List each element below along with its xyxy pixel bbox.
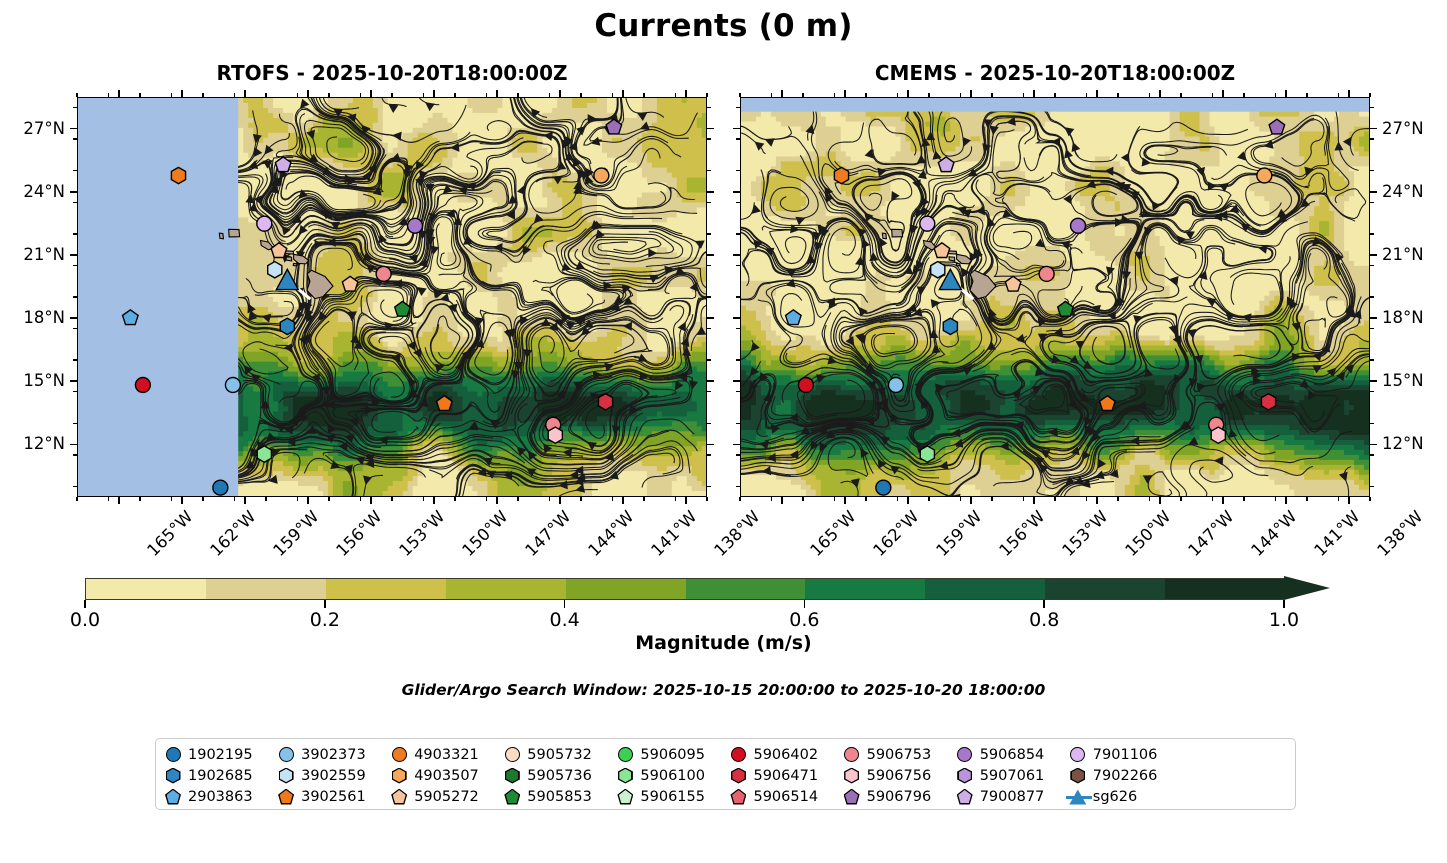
platform-marker-1902685[interactable]	[280, 318, 294, 334]
rtofs-current-field	[78, 98, 706, 496]
colorbar-segment	[566, 579, 687, 599]
latitude-tick-label-left: 27°N	[0, 119, 65, 138]
platform-marker-3902373[interactable]	[888, 377, 903, 392]
xtick-major-top	[781, 90, 783, 97]
platform-marker-1902685[interactable]	[943, 318, 957, 334]
xtick-major	[307, 497, 309, 504]
xtick-major-top	[970, 90, 972, 97]
latitude-tick-label-right: 12°N	[1382, 434, 1424, 453]
platform-marker-5906753[interactable]	[376, 266, 391, 281]
ytick-minor-right	[707, 265, 711, 266]
platform-marker-5906471[interactable]	[1261, 394, 1275, 410]
xtick-minor	[928, 497, 929, 501]
xtick-minor	[423, 497, 424, 501]
legend-label: 5906753	[867, 747, 932, 763]
ytick-minor-right	[707, 328, 711, 329]
ytick-major-right	[707, 191, 714, 193]
ytick-minor-left	[736, 391, 740, 392]
legend-label: 2903863	[188, 789, 253, 805]
xtick-minor-top	[739, 93, 740, 97]
legend-label: 5906100	[640, 768, 705, 784]
ytick-minor-right	[1370, 138, 1374, 139]
hexagon-fill	[506, 769, 518, 782]
xtick-major	[1159, 497, 1161, 504]
ytick-minor-right	[707, 486, 711, 487]
xtick-major-top	[496, 90, 498, 97]
colorbar-tick-label: 0.6	[789, 609, 819, 631]
colorbar-tick	[1043, 600, 1045, 608]
platform-marker-7901106[interactable]	[257, 216, 272, 231]
colorbar-segment	[86, 579, 207, 599]
hexagon-marker-icon	[1070, 768, 1085, 784]
legend-label: 5905272	[414, 789, 479, 805]
legend-label: 5906756	[867, 768, 932, 784]
legend-label: 5906514	[753, 789, 818, 805]
platform-marker-3902559[interactable]	[268, 262, 282, 278]
ytick-minor-left	[73, 359, 77, 360]
ytick-minor-right	[707, 296, 711, 297]
xtick-minor-top	[706, 93, 707, 97]
ytick-major-right	[707, 380, 714, 382]
longitude-tick-label: 141°W	[647, 507, 700, 560]
ytick-minor-right	[1370, 265, 1374, 266]
legend-label: 5907061	[980, 768, 1045, 784]
longitude-tick-label: 141°W	[1310, 507, 1363, 560]
longitude-tick-label: 162°W	[869, 507, 922, 560]
xtick-major	[496, 497, 498, 504]
legend-item[interactable]: 5905853	[503, 788, 616, 806]
xtick-major-top	[1096, 90, 1098, 97]
ytick-minor-right	[707, 202, 711, 203]
colorbar-tick	[84, 600, 86, 608]
circle-marker-icon	[618, 747, 633, 762]
colorbar-segment	[805, 579, 926, 599]
island-kauai	[229, 229, 240, 237]
circle-marker-icon	[844, 747, 859, 762]
pentagon-fill	[619, 790, 632, 803]
pentagon-fill	[280, 790, 293, 803]
legend-item[interactable]: sg626	[1069, 788, 1182, 806]
pentagon-fill	[958, 790, 971, 803]
legend-marker-circle-icon	[956, 746, 974, 764]
xtick-minor-top	[1243, 93, 1244, 97]
latitude-tick-label-right: 24°N	[1382, 182, 1424, 201]
hexagon-fill	[167, 769, 179, 782]
ytick-minor-left	[73, 391, 77, 392]
ytick-minor-left	[73, 138, 77, 139]
xtick-major	[1348, 497, 1350, 504]
platform-marker-5906854[interactable]	[1071, 218, 1086, 233]
platform-marker-7901106[interactable]	[920, 216, 935, 231]
figure-title: Currents (0 m)	[0, 8, 1447, 44]
legend-marker-pentagon-icon	[843, 788, 861, 806]
legend-item[interactable]: 5906100	[616, 767, 729, 785]
colorbar-tick-label: 0.0	[70, 609, 100, 631]
pentagon-marker-icon	[391, 789, 407, 805]
rtofs-no-data-overlay	[78, 98, 238, 496]
legend-item[interactable]: 5905272	[390, 788, 503, 806]
xtick-minor	[202, 497, 203, 501]
ytick-major-left	[70, 191, 77, 193]
colorbar-segment	[686, 579, 807, 599]
ytick-minor-right	[707, 423, 711, 424]
ytick-minor-right	[1370, 296, 1374, 297]
latitude-tick-label-right: 27°N	[1382, 119, 1424, 138]
ytick-minor-left	[736, 265, 740, 266]
ytick-minor-right	[707, 170, 711, 171]
legend-label: 7902266	[1093, 768, 1158, 784]
ytick-minor-left	[73, 265, 77, 266]
xtick-minor-top	[928, 93, 929, 97]
ytick-major-right	[1370, 380, 1377, 382]
xtick-minor-top	[108, 93, 109, 97]
colorbar-tick-label: 0.8	[1029, 609, 1059, 631]
xtick-minor-top	[1117, 93, 1118, 97]
xtick-minor	[1369, 497, 1370, 501]
longitude-tick-label: 156°W	[995, 507, 1048, 560]
panel-title-cmems: CMEMS - 2025-10-20T18:00:00Z	[740, 61, 1370, 85]
platform-marker-5906100[interactable]	[257, 446, 271, 462]
xtick-minor	[897, 497, 898, 501]
xtick-minor-top	[771, 93, 772, 97]
xtick-minor	[991, 497, 992, 501]
ytick-minor-left	[736, 170, 740, 171]
ytick-minor-left	[736, 202, 740, 203]
legend-marker-pentagon-icon	[956, 788, 974, 806]
legend-marker-hexagon-icon	[390, 767, 408, 785]
hexagon-fill	[732, 769, 744, 782]
xtick-major	[559, 497, 561, 504]
legend-item[interactable]: 3902373	[277, 746, 390, 764]
colorbar-segment	[1165, 579, 1286, 599]
hexagon-marker-icon	[279, 768, 294, 784]
ytick-minor-right	[1370, 423, 1374, 424]
xtick-minor	[580, 497, 581, 501]
ytick-major-left	[733, 191, 740, 193]
longitude-tick-label: 147°W	[521, 507, 574, 560]
legend-marker-pentagon-icon	[503, 788, 521, 806]
xtick-major	[1033, 497, 1035, 504]
ytick-minor-right	[1370, 170, 1374, 171]
xtick-minor-top	[454, 93, 455, 97]
xtick-major-top	[1159, 90, 1161, 97]
xtick-minor-top	[643, 93, 644, 97]
xtick-minor	[1338, 497, 1339, 501]
legend-marker-hexagon-icon	[616, 767, 634, 785]
ytick-major-right	[707, 317, 714, 319]
legend-item[interactable]: 1902685	[164, 767, 277, 785]
latitude-tick-label-left: 12°N	[0, 434, 65, 453]
legend-item[interactable]: 5905736	[503, 767, 616, 785]
xtick-major-top	[118, 90, 120, 97]
xtick-minor-top	[234, 93, 235, 97]
longitude-tick-label: 150°W	[1121, 507, 1174, 560]
ytick-major-right	[1370, 128, 1377, 130]
legend-item[interactable]: 7902266	[1069, 767, 1182, 785]
ytick-major-left	[70, 380, 77, 382]
xtick-minor	[706, 497, 707, 501]
platform-marker-5906756[interactable]	[1211, 427, 1225, 443]
colorbar-segment	[925, 579, 1046, 599]
island-kauai	[892, 229, 903, 237]
latitude-tick-label-right: 18°N	[1382, 308, 1424, 327]
xtick-minor	[1306, 497, 1307, 501]
xtick-major	[1096, 497, 1098, 504]
xtick-minor-top	[1369, 93, 1370, 97]
legend-label: 5905736	[527, 768, 592, 784]
legend-item[interactable]: 3902561	[277, 788, 390, 806]
xtick-minor	[265, 497, 266, 501]
ytick-minor-left	[736, 233, 740, 234]
xtick-minor	[171, 497, 172, 501]
ytick-major-left	[733, 380, 740, 382]
xtick-major-top	[181, 90, 183, 97]
xtick-minor-top	[675, 93, 676, 97]
legend-item[interactable]: 5907061	[956, 767, 1069, 785]
xtick-major-top	[244, 90, 246, 97]
legend-item[interactable]: 5906155	[616, 788, 729, 806]
xtick-minor	[328, 497, 329, 501]
longitude-tick-label: 165°W	[806, 507, 859, 560]
pentagon-fill	[393, 790, 406, 803]
xtick-minor-top	[202, 93, 203, 97]
legend-item[interactable]: 7901106	[1069, 746, 1182, 764]
ytick-minor-right	[707, 138, 711, 139]
hexagon-fill	[393, 769, 405, 782]
legend-marker-circle-icon	[390, 746, 408, 764]
colorbar-segment	[1045, 579, 1166, 599]
legend-item[interactable]: 5906753	[843, 746, 956, 764]
ytick-minor-right	[1370, 454, 1374, 455]
xtick-minor	[1023, 497, 1024, 501]
legend-item[interactable]: 5906854	[956, 746, 1069, 764]
platform-marker-1902195[interactable]	[213, 480, 228, 495]
xtick-major	[970, 497, 972, 504]
legend-label: 1902195	[188, 747, 253, 763]
platform-marker-5906756[interactable]	[548, 427, 562, 443]
xtick-major-top	[559, 90, 561, 97]
colorbar-tick	[564, 600, 566, 608]
ytick-minor-left	[736, 328, 740, 329]
xtick-major	[181, 497, 183, 504]
pentagon-marker-icon	[165, 789, 181, 805]
platform-marker-5906854[interactable]	[408, 218, 423, 233]
ytick-minor-left	[73, 170, 77, 171]
xtick-major-top	[1222, 90, 1224, 97]
legend-label: 5906471	[753, 768, 818, 784]
xtick-minor	[454, 497, 455, 501]
longitude-tick-label: 150°W	[458, 507, 511, 560]
circle-marker-icon	[166, 747, 181, 762]
island-niihau	[882, 233, 886, 239]
legend-item[interactable]: 4903507	[390, 767, 503, 785]
ytick-major-right	[1370, 444, 1377, 446]
legend-marker-hexagon-icon	[503, 767, 521, 785]
xtick-minor-top	[580, 93, 581, 97]
platform-marker-3902559[interactable]	[931, 262, 945, 278]
ytick-minor-right	[1370, 202, 1374, 203]
hexagon-fill	[280, 769, 292, 782]
colorbar-segment	[206, 579, 327, 599]
colorbar-tick	[1283, 600, 1285, 608]
longitude-tick-label: 147°W	[1184, 507, 1237, 560]
legend-item[interactable]: 5906471	[729, 767, 842, 785]
legend-marker-circle-icon	[1069, 746, 1087, 764]
xtick-minor	[865, 497, 866, 501]
longitude-tick-label: 159°W	[269, 507, 322, 560]
colorbar-tick-label: 0.2	[310, 609, 340, 631]
platform-marker-4903321[interactable]	[834, 167, 848, 183]
circle-marker-icon	[279, 747, 294, 762]
latitude-tick-label-left: 18°N	[0, 308, 65, 327]
xtick-minor-top	[1338, 93, 1339, 97]
legend-item[interactable]: 5905732	[503, 746, 616, 764]
legend-item[interactable]: 5906402	[729, 746, 842, 764]
xtick-minor-top	[328, 93, 329, 97]
xtick-minor-top	[265, 93, 266, 97]
legend-marker-circle-icon	[277, 746, 295, 764]
legend-marker-circle-icon	[164, 746, 182, 764]
ytick-minor-left	[73, 486, 77, 487]
xtick-major	[244, 497, 246, 504]
legend-label: 4903507	[414, 768, 479, 784]
legend-label: 5906155	[640, 789, 705, 805]
legend-marker-glider-icon	[1069, 788, 1087, 806]
xtick-minor-top	[423, 93, 424, 97]
ytick-minor-right	[707, 391, 711, 392]
platform-legend[interactable]: 1902195190268529038633902373390255939025…	[155, 738, 1296, 810]
xtick-minor-top	[865, 93, 866, 97]
xtick-minor-top	[1275, 93, 1276, 97]
platform-marker-3902373[interactable]	[225, 377, 240, 392]
longitude-tick-label: 144°W	[584, 507, 637, 560]
legend-marker-hexagon-icon	[277, 767, 295, 785]
xtick-major-top	[1033, 90, 1035, 97]
legend-marker-circle-icon	[616, 746, 634, 764]
colorbar-title: Magnitude (m/s)	[0, 632, 1447, 654]
platform-marker-4903507[interactable]	[1257, 168, 1272, 183]
hexagon-marker-icon	[957, 768, 972, 784]
map-panel-cmems[interactable]	[740, 97, 1370, 497]
xtick-major	[370, 497, 372, 504]
ytick-minor-right	[707, 107, 711, 108]
xtick-minor	[960, 497, 961, 501]
platform-marker-1902195[interactable]	[876, 480, 891, 495]
legend-marker-hexagon-icon	[729, 767, 747, 785]
xtick-minor-top	[1086, 93, 1087, 97]
xtick-major-top	[622, 90, 624, 97]
xtick-major-top	[1285, 90, 1287, 97]
colorbar-tick-label: 0.4	[549, 609, 579, 631]
legend-marker-hexagon-icon	[843, 767, 861, 785]
legend-marker-pentagon-icon	[164, 788, 182, 806]
platform-marker-5906471[interactable]	[598, 394, 612, 410]
legend-marker-hexagon-icon	[164, 767, 182, 785]
xtick-minor-top	[612, 93, 613, 97]
legend-item[interactable]: 4903321	[390, 746, 503, 764]
colorbar-segment	[446, 579, 567, 599]
ytick-minor-right	[707, 359, 711, 360]
xtick-minor	[1086, 497, 1087, 501]
legend-marker-circle-icon	[729, 746, 747, 764]
hexagon-fill	[619, 769, 631, 782]
longitude-tick-label: 153°W	[395, 507, 448, 560]
xtick-minor-top	[1212, 93, 1213, 97]
latitude-tick-label-left: 15°N	[0, 371, 65, 390]
legend-item[interactable]: 7900877	[956, 788, 1069, 806]
longitude-tick-label: 138°W	[710, 507, 763, 560]
platform-marker-4903321[interactable]	[171, 167, 185, 183]
xtick-major	[1222, 497, 1224, 504]
xtick-minor-top	[834, 93, 835, 97]
ytick-minor-right	[1370, 107, 1374, 108]
xtick-minor-top	[486, 93, 487, 97]
pentagon-marker-icon	[844, 789, 860, 805]
xtick-minor-top	[1054, 93, 1055, 97]
ytick-major-right	[1370, 317, 1377, 319]
island-lanai	[286, 257, 292, 261]
xtick-minor	[76, 497, 77, 501]
legend-item[interactable]: 2903863	[164, 788, 277, 806]
legend-item[interactable]: 3902559	[277, 767, 390, 785]
colorbar-segment	[326, 579, 447, 599]
legend-item[interactable]: 5906095	[616, 746, 729, 764]
latitude-tick-label-left: 24°N	[0, 182, 65, 201]
ytick-minor-right	[1370, 233, 1374, 234]
ytick-minor-right	[1370, 486, 1374, 487]
ytick-minor-left	[73, 202, 77, 203]
xtick-minor	[139, 497, 140, 501]
xtick-minor-top	[960, 93, 961, 97]
platform-marker-5906402[interactable]	[798, 377, 813, 392]
xtick-minor	[486, 497, 487, 501]
platform-marker-5906100[interactable]	[920, 446, 934, 462]
map-panel-rtofs[interactable]	[77, 97, 707, 497]
cmems-current-field	[741, 98, 1369, 496]
island-kahoolawe	[956, 263, 960, 265]
platform-marker-5906753[interactable]	[1039, 266, 1054, 281]
pentagon-fill	[167, 790, 180, 803]
pentagon-marker-icon	[617, 789, 633, 805]
legend-item[interactable]: 1902195	[164, 746, 277, 764]
circle-marker-icon	[392, 747, 407, 762]
legend-item[interactable]: 5906514	[729, 788, 842, 806]
xtick-minor	[643, 497, 644, 501]
longitude-tick-label: 165°W	[143, 507, 196, 560]
xtick-major-top	[370, 90, 372, 97]
ytick-major-right	[707, 128, 714, 130]
pentagon-fill	[845, 790, 858, 803]
xtick-minor-top	[1023, 93, 1024, 97]
legend-item[interactable]: 5906796	[843, 788, 956, 806]
circle-marker-icon	[505, 747, 520, 762]
colorbar-tick	[804, 600, 806, 608]
colorbar[interactable]: 0.00.20.40.60.81.0	[85, 578, 1330, 600]
xtick-major	[1285, 497, 1287, 504]
legend-label: 1902685	[188, 768, 253, 784]
legend-marker-pentagon-icon	[277, 788, 295, 806]
ytick-major-left	[70, 254, 77, 256]
pentagon-marker-icon	[730, 789, 746, 805]
ytick-minor-left	[736, 138, 740, 139]
legend-label: 7901106	[1093, 747, 1158, 763]
platform-marker-4903507[interactable]	[594, 168, 609, 183]
legend-item[interactable]: 5906756	[843, 767, 956, 785]
xtick-minor-top	[139, 93, 140, 97]
platform-marker-5906402[interactable]	[135, 377, 150, 392]
island-niihau	[219, 233, 223, 239]
legend-label: 5906095	[640, 747, 705, 763]
